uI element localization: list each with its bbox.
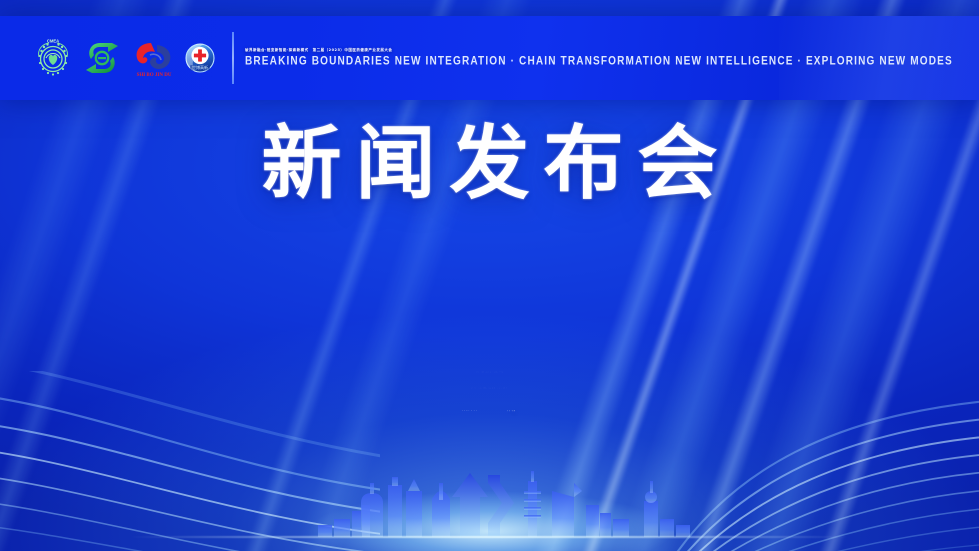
banner-title-english: BREAKING BOUNDARIES NEW INTEGRATION · CH… [245,55,953,68]
banner-title-chinese: 破界新融合·链变新智能·探索新模式 第二届（2025）中国医药健康产业发展大会 [245,49,953,53]
date-location-line: 2025.5.11 中国·淄博 [0,411,979,412]
credits-block: 主办单位：中国医药教育协会 山东省医药行业协会 执行单位：北京世博金都医药科技发… [0,372,979,412]
green-swirl-logo [82,37,122,79]
organizer-logos: CMEA [0,37,220,79]
skyline-floor-light [130,536,850,538]
press-conference-poster: CMEA [0,0,979,551]
svg-text:CMEA: CMEA [47,39,59,44]
cmea-emblem-logo: CMEA [33,37,73,79]
banner-text-block: 破界新融合·链变新智能·探索新模式 第二届（2025）中国医药健康产业发展大会 … [245,49,953,68]
top-banner-bar: CMEA [0,16,979,100]
svg-text:世博高新: 世博高新 [192,64,208,70]
red-cross-hospital-logo: 世博高新 [180,37,220,79]
svg-text:SHI BO JIN DU: SHI BO JIN DU [137,73,172,78]
shibo-jindu-logo: SHI BO JIN DU [131,37,171,79]
page-title: 新闻发布会 [0,124,979,204]
banner-divider [232,32,234,84]
